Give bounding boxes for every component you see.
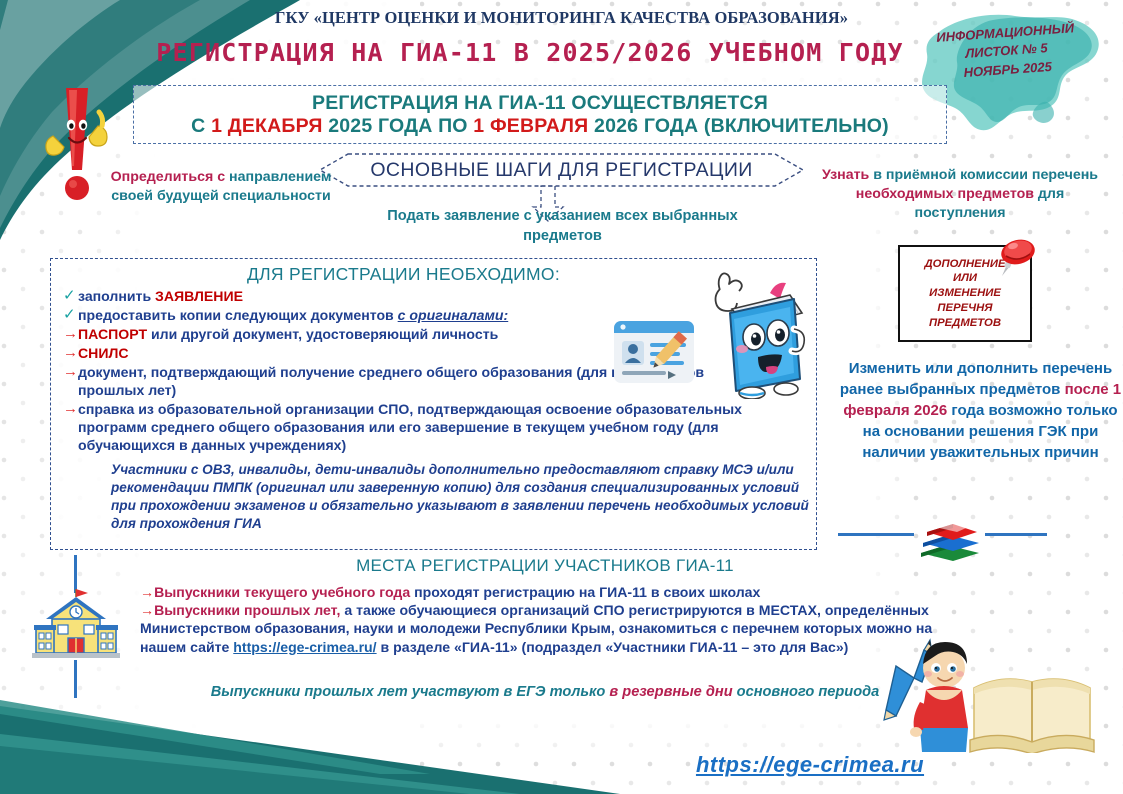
step-right-note-part2: в приёмной комиссии (869, 167, 1028, 183)
divider-right (985, 533, 1047, 536)
page-title: РЕГИСТРАЦИЯ НА ГИА-11 В 2025/2026 УЧЕБНО… (90, 38, 970, 67)
ovz-participants-note: Участники с ОВЗ, инвалиды, дети-инвалиды… (111, 461, 811, 533)
requirement-text: заполнить ЗАЯВЛЕНИЕ (78, 287, 753, 305)
arrow-icon: → (140, 584, 154, 600)
reserve-note-part1: Выпускники прошлых лет участвуют в ЕГЭ т… (211, 684, 610, 700)
arrow-icon: → (63, 400, 78, 454)
poster-canvas: ГКУ «ЦЕНТР ОЦЕНКИ И МОНИТОРИНГА КАЧЕСТВА… (0, 0, 1123, 794)
period-prefix: С (191, 115, 211, 137)
places-line2-tail: в разделе «ГИА-11» (подраздел «Участники… (377, 639, 849, 655)
exclamation-mascot-icon (36, 78, 116, 218)
ege-crimea-inline-link[interactable]: https://ege-crimea.ru/ (233, 639, 376, 655)
step-right-note: Узнать в приёмной комиссии перечень необ… (810, 166, 1110, 223)
reserve-note-emph: в резервные дни (609, 684, 732, 700)
reserve-days-note: Выпускники прошлых лет участвуют в ЕГЭ т… (140, 684, 950, 700)
period-end-date: 1 ФЕВРАЛЯ (473, 115, 588, 137)
reserve-note-part3: основного периода (733, 684, 880, 700)
req-3-emph: СНИЛС (78, 345, 129, 361)
places-line-1: →Выпускники текущего учебного года прохо… (140, 583, 950, 601)
step-right-note-part3: перечень (1032, 167, 1098, 183)
step-right-note-part5: предметов (958, 186, 1034, 202)
check-icon: ✓ (63, 287, 78, 305)
book-mascot-icon (690, 269, 810, 399)
subject-change-rule-text: Изменить или дополнить перечень ранее вы… (838, 358, 1123, 463)
step-middle-note: Подать заявление с указанием всех выбран… (370, 207, 755, 247)
period-suffix: 2026 ГОДА (ВКЛЮЧИТЕЛЬНО) (588, 115, 888, 137)
pin-note-line4: ПЕРЕЧНЯ (925, 301, 1006, 316)
registration-period-line1: РЕГИСТРАЦИЯ НА ГИА-11 ОСУЩЕСТВЛЯЕТСЯ (312, 92, 768, 114)
period-middle: 2025 ГОДА ПО (323, 115, 474, 137)
step-right-note-part4: необходимых (856, 186, 954, 202)
arrow-icon: → (140, 602, 154, 618)
places-line1-emph: Выпускники текущего учебного года (154, 584, 410, 600)
step-left-note-part1: Определиться с (111, 169, 225, 185)
main-steps-banner-label: ОСНОВНЫЕ ШАГИ ДЛЯ РЕГИСТРАЦИИ (318, 152, 805, 188)
pin-note-line5: ПРЕДМЕТОВ (925, 316, 1006, 331)
footer-site-url[interactable]: https://ege-crimea.ru (600, 752, 1020, 778)
divider-left (838, 533, 914, 536)
places-line1-rest: проходят регистрацию на ГИА-11 в своих ш… (410, 584, 760, 600)
vertical-divider-bottom (74, 660, 77, 698)
registration-places-body: →Выпускники текущего учебного года прохо… (140, 583, 950, 656)
check-icon: ✓ (63, 306, 78, 324)
list-item: ✓ заполнить ЗАЯВЛЕНИЕ (63, 287, 753, 305)
list-item: → справка из образовательной организации… (63, 400, 753, 454)
req-0-emph: ЗАЯВЛЕНИЕ (155, 288, 243, 304)
req-2-tail: или другой документ, удостоверяющий личн… (147, 326, 498, 342)
pin-note-line3: ИЗМЕНЕНИЕ (925, 286, 1006, 301)
req-2-emph: ПАСПОРТ (78, 326, 147, 342)
registration-places-title: МЕСТА РЕГИСТРАЦИИ УЧАСТНИКОВ ГИА-11 (150, 556, 940, 576)
places-line-2: →Выпускники прошлых лет, а также обучающ… (140, 601, 950, 656)
arrow-icon: → (63, 363, 78, 399)
registration-period-line2: С 1 ДЕКАБРЯ 2025 ГОДА ПО 1 ФЕВРАЛЯ 2026 … (191, 115, 889, 137)
req-0-plain: заполнить (78, 288, 155, 304)
step-right-note-part1: Узнать (822, 167, 869, 183)
id-document-icon (612, 317, 696, 387)
requirement-text: справка из образовательной организации С… (78, 400, 753, 454)
places-line2-emph: Выпускники прошлых лет, (154, 602, 340, 618)
period-start-date: 1 ДЕКАБРЯ (211, 115, 323, 137)
push-pin-icon (988, 232, 1040, 284)
req-1-plain: предоставить копии следующих документов (78, 307, 398, 323)
school-building-icon (30, 585, 122, 663)
organization-title: ГКУ «ЦЕНТР ОЦЕНКИ И МОНИТОРИНГА КАЧЕСТВА… (0, 8, 1123, 28)
boy-with-book-illustration (870, 628, 1120, 753)
arrow-icon: → (63, 325, 78, 343)
registration-requirements-box: ДЛЯ РЕГИСТРАЦИИ НЕОБХОДИМО: ✓ заполнить … (50, 258, 817, 550)
registration-period-box: РЕГИСТРАЦИЯ НА ГИА-11 ОСУЩЕСТВЛЯЕТСЯ С 1… (133, 85, 947, 144)
arrow-icon: → (63, 344, 78, 362)
main-steps-banner: ОСНОВНЫЕ ШАГИ ДЛЯ РЕГИСТРАЦИИ (318, 152, 805, 188)
req-1-emph: с оригиналами: (398, 307, 509, 323)
step-left-note: Определиться с направлением своей будуще… (108, 168, 334, 206)
